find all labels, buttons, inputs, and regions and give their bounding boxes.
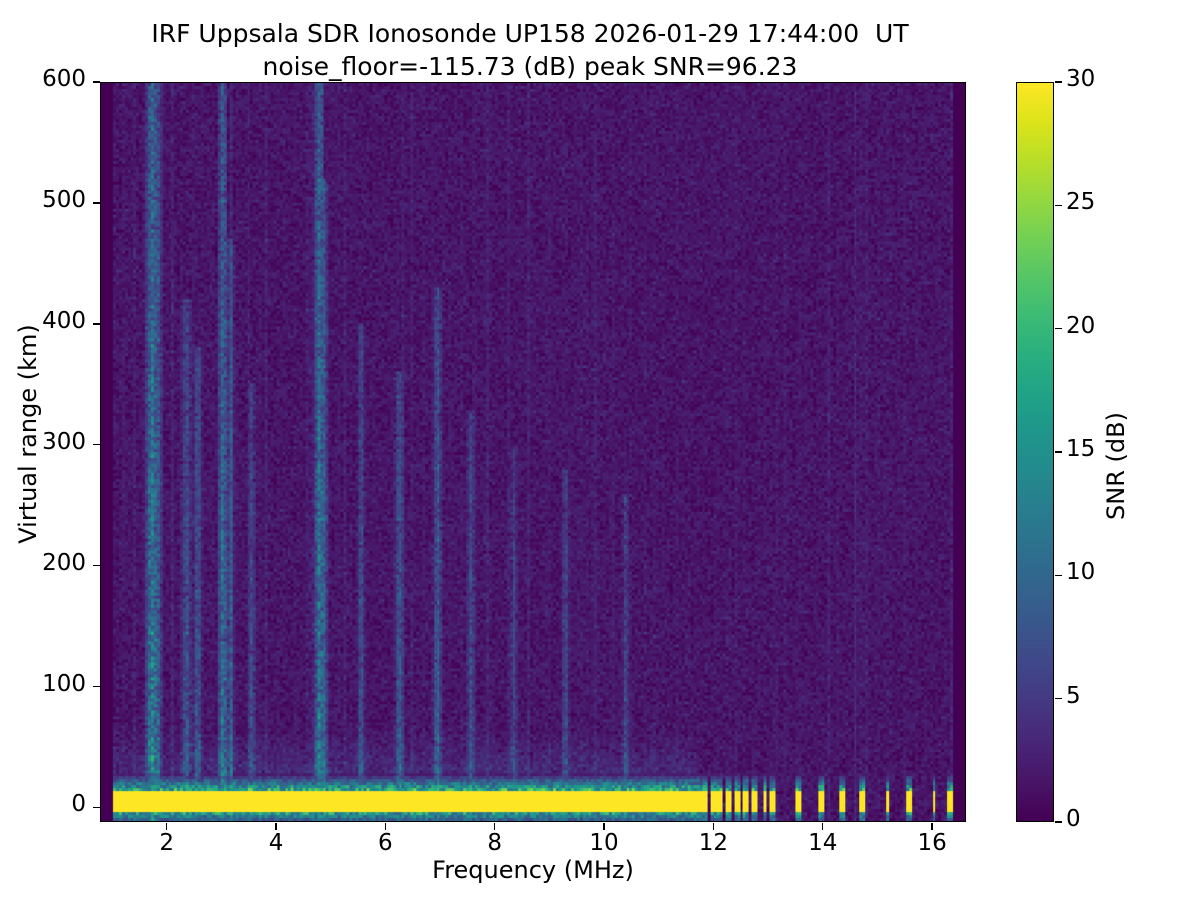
y-tick-label: 300 xyxy=(0,429,86,455)
x-tick-mark xyxy=(275,823,276,830)
y-tick-mark xyxy=(93,81,100,82)
colorbar-tick-mark xyxy=(1055,328,1062,329)
x-tick-label: 2 xyxy=(137,830,197,856)
colorbar-tick-label: 15 xyxy=(1066,436,1095,462)
colorbar-label: SNR (dB) xyxy=(1102,336,1130,596)
x-tick-mark xyxy=(385,823,386,830)
colorbar-gradient xyxy=(1017,83,1053,821)
y-tick-mark xyxy=(93,807,100,808)
x-tick-mark xyxy=(822,823,823,830)
y-tick-label: 0 xyxy=(0,791,86,817)
chart-title-line-2: noise_floor=-115.73 (dB) peak SNR=96.23 xyxy=(0,51,1060,84)
x-tick-label: 14 xyxy=(793,830,853,856)
y-tick-label: 100 xyxy=(0,671,86,697)
x-tick-mark xyxy=(603,823,604,830)
x-tick-label: 10 xyxy=(574,830,634,856)
y-tick-mark xyxy=(93,323,100,324)
colorbar-tick-label: 10 xyxy=(1066,559,1095,585)
colorbar-tick-label: 0 xyxy=(1066,806,1081,832)
chart-title: IRF Uppsala SDR Ionosonde UP158 2026-01-… xyxy=(0,18,1060,83)
chart-title-line-1: IRF Uppsala SDR Ionosonde UP158 2026-01-… xyxy=(0,18,1060,51)
colorbar-tick-mark xyxy=(1055,575,1062,576)
x-tick-mark xyxy=(713,823,714,830)
colorbar-tick-label: 5 xyxy=(1066,683,1081,709)
y-tick-mark xyxy=(93,686,100,687)
y-tick-label: 600 xyxy=(0,66,86,92)
x-tick-label: 12 xyxy=(683,830,743,856)
colorbar-tick-label: 20 xyxy=(1066,313,1095,339)
colorbar-tick-mark xyxy=(1055,821,1062,822)
x-tick-label: 8 xyxy=(465,830,525,856)
colorbar-tick-label: 30 xyxy=(1066,66,1095,92)
y-tick-label: 500 xyxy=(0,187,86,213)
ionogram-figure: IRF Uppsala SDR Ionosonde UP158 2026-01-… xyxy=(0,0,1200,900)
colorbar[interactable] xyxy=(1016,82,1054,822)
x-tick-label: 16 xyxy=(902,830,962,856)
y-axis-label: Virtual range (km) xyxy=(14,174,42,694)
x-tick-mark xyxy=(166,823,167,830)
x-tick-mark xyxy=(494,823,495,830)
x-tick-label: 4 xyxy=(246,830,306,856)
y-tick-label: 400 xyxy=(0,308,86,334)
ionogram-heatmap xyxy=(101,83,965,821)
plot-area[interactable] xyxy=(100,82,966,822)
y-tick-label: 200 xyxy=(0,550,86,576)
colorbar-tick-mark xyxy=(1055,81,1062,82)
colorbar-tick-mark xyxy=(1055,205,1062,206)
y-tick-mark xyxy=(93,444,100,445)
y-tick-mark xyxy=(93,565,100,566)
colorbar-tick-label: 25 xyxy=(1066,189,1095,215)
x-tick-label: 6 xyxy=(355,830,415,856)
y-tick-mark xyxy=(93,202,100,203)
x-axis-label: Frequency (MHz) xyxy=(100,856,966,884)
colorbar-tick-mark xyxy=(1055,698,1062,699)
x-tick-mark xyxy=(931,823,932,830)
colorbar-tick-mark xyxy=(1055,451,1062,452)
